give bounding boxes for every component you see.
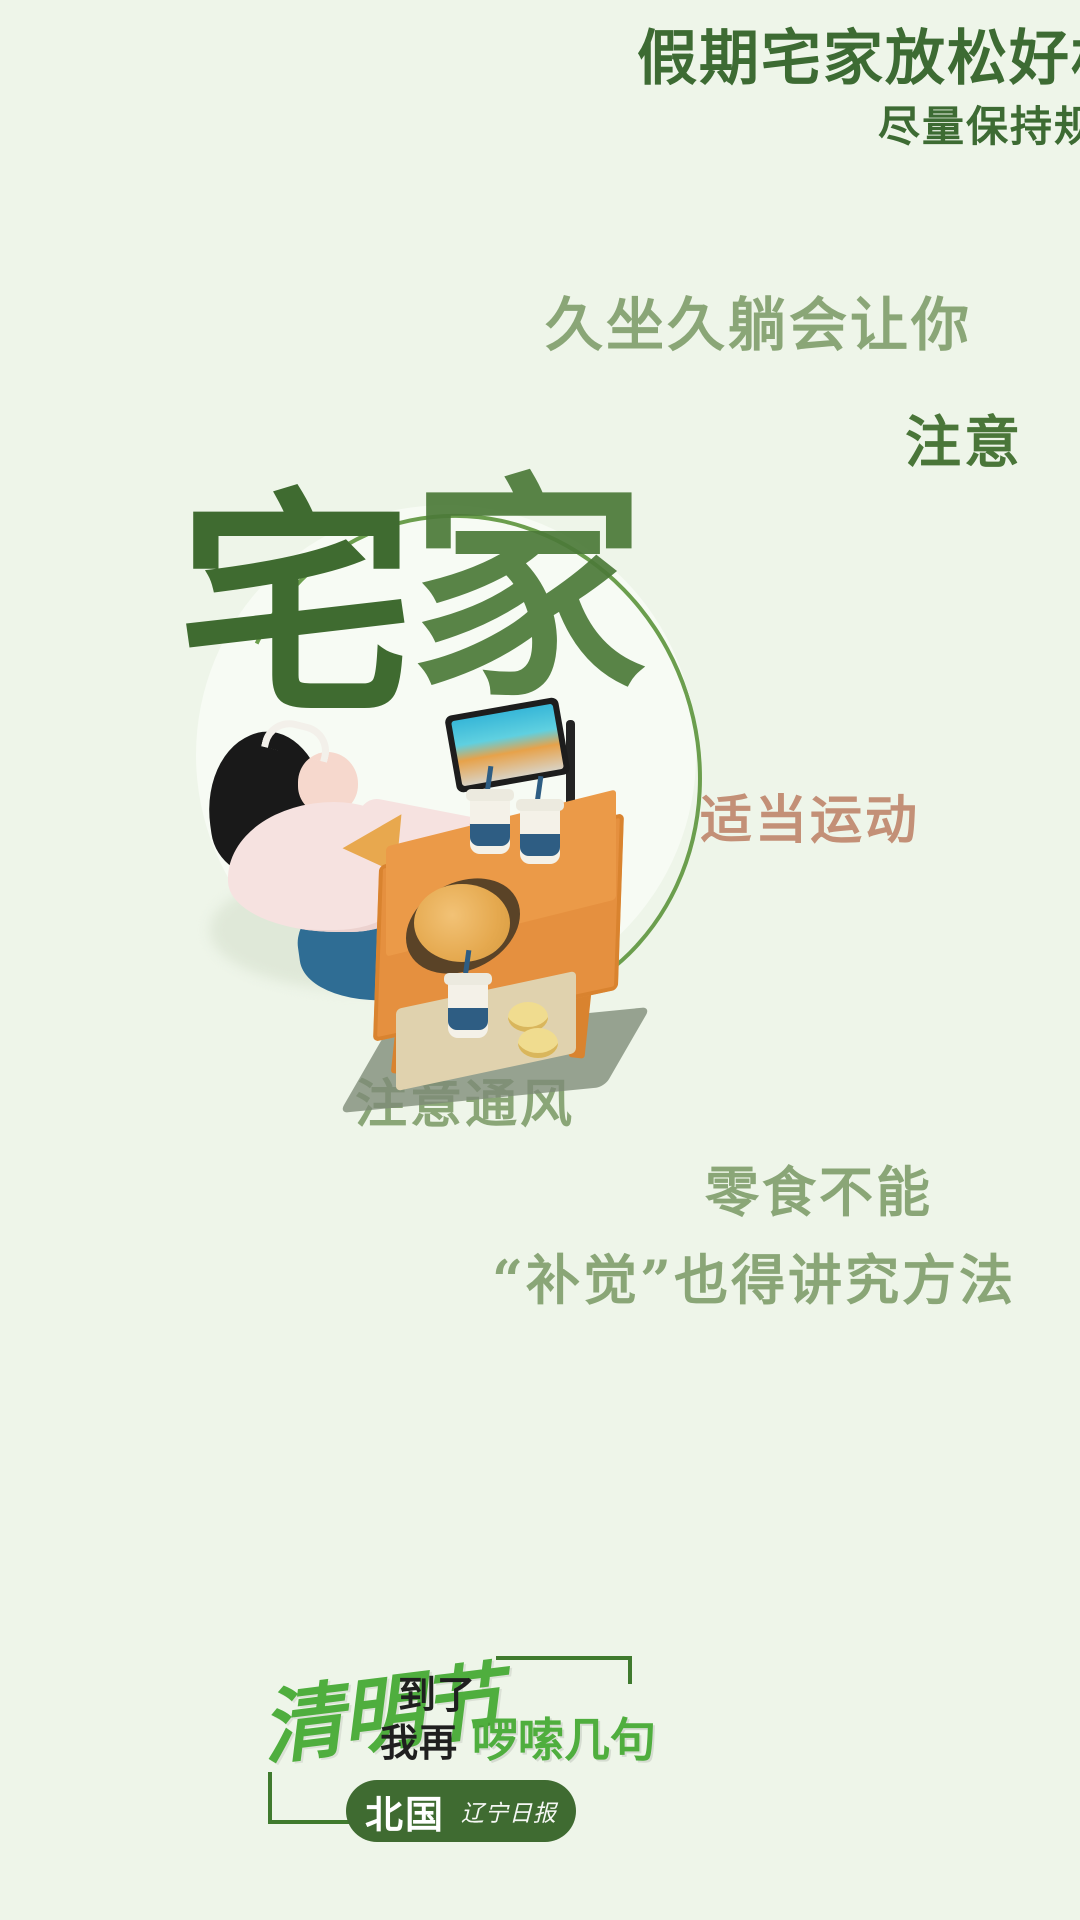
publisher-brand-text: 北国 bbox=[365, 1784, 445, 1839]
poster-canvas: 假期宅家放松好机会 尽量保持规律作息 久坐久躺会让你 注意 适当运动 注意通风 … bbox=[0, 0, 1080, 1920]
poster-headline-text: 假期宅家放松好机会 bbox=[637, 28, 1080, 91]
logo-chat-text: 啰嗦几句 bbox=[472, 1704, 656, 1770]
pizza-icon bbox=[414, 884, 510, 962]
cup-band-1 bbox=[470, 824, 510, 846]
poster-subheadline: 尽量保持规律作息 bbox=[0, 104, 1080, 150]
tip-line-snack: 零食不能 bbox=[705, 1148, 933, 1227]
drink-cup-icon-2 bbox=[520, 806, 560, 864]
tip-line-sit: 久坐久躺会让你 bbox=[545, 278, 972, 362]
publisher-badge: 北国 辽宁日报 bbox=[346, 1780, 576, 1842]
cup-lid-1 bbox=[466, 789, 514, 801]
calligraphy-char-2: 家 bbox=[410, 472, 642, 708]
tip-line-move: 适当运动 bbox=[700, 778, 920, 853]
logo-lockup: 清明节 到了 我再 啰嗦几句 北国 辽宁日报 bbox=[250, 1630, 680, 1860]
drink-cup-icon-3 bbox=[448, 980, 488, 1038]
cup-lid-3 bbox=[444, 973, 492, 985]
tablet-icon bbox=[444, 697, 571, 794]
logo-again-text: 我再 bbox=[380, 1712, 458, 1767]
logo-arrived-text: 到了 bbox=[398, 1664, 476, 1719]
bracket-top-right bbox=[496, 1656, 632, 1684]
bracket-bottom-left bbox=[268, 1772, 354, 1824]
drink-cup-icon-1 bbox=[470, 796, 510, 854]
calligraphy-word: 宅家 bbox=[178, 488, 642, 724]
illustration-girl-at-home bbox=[180, 690, 670, 1190]
cup-band-3 bbox=[448, 1008, 488, 1030]
tip-line-note: 注意 bbox=[905, 398, 1023, 479]
cup-lid-2 bbox=[516, 799, 564, 811]
tip-line-sleep: “补觉”也得讲究方法 bbox=[492, 1236, 1016, 1315]
pastry-icon-2 bbox=[518, 1028, 558, 1058]
publisher-paper-text: 辽宁日报 bbox=[461, 1794, 557, 1828]
poster-subheadline-text: 尽量保持规律作息 bbox=[878, 104, 1080, 150]
cup-band-2 bbox=[520, 834, 560, 856]
poster-headline: 假期宅家放松好机会 bbox=[0, 28, 1080, 91]
tablet-screen bbox=[451, 704, 564, 787]
